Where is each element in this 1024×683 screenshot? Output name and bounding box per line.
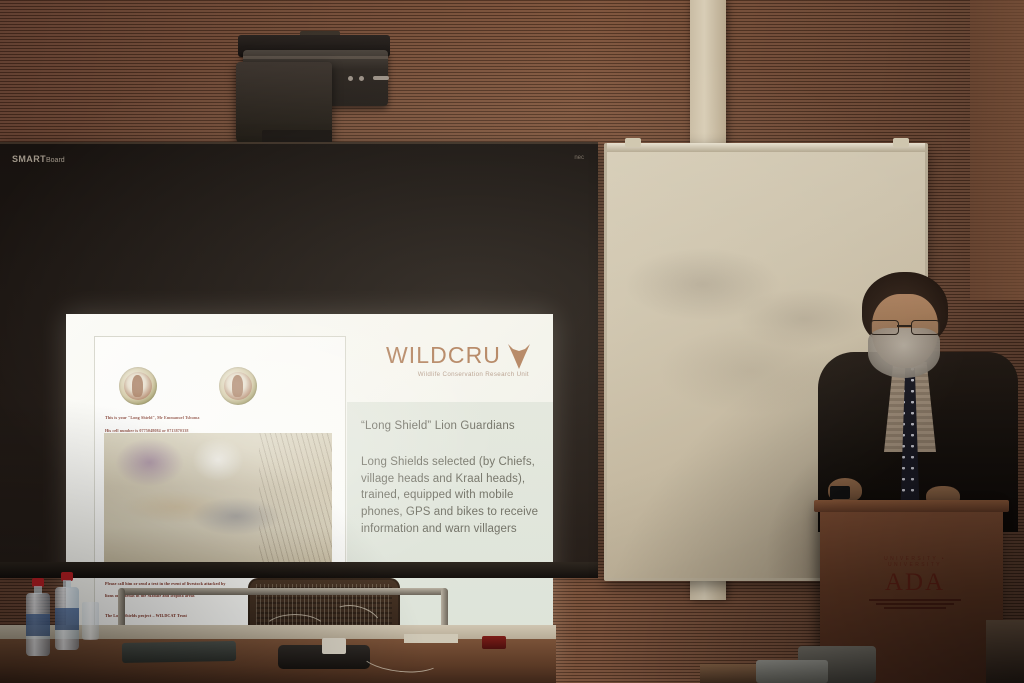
lecture-room-photo: SMART SMARTBoard nec “Long Shield” Lion … — [0, 0, 1024, 683]
lighting-vignette — [0, 0, 1024, 683]
